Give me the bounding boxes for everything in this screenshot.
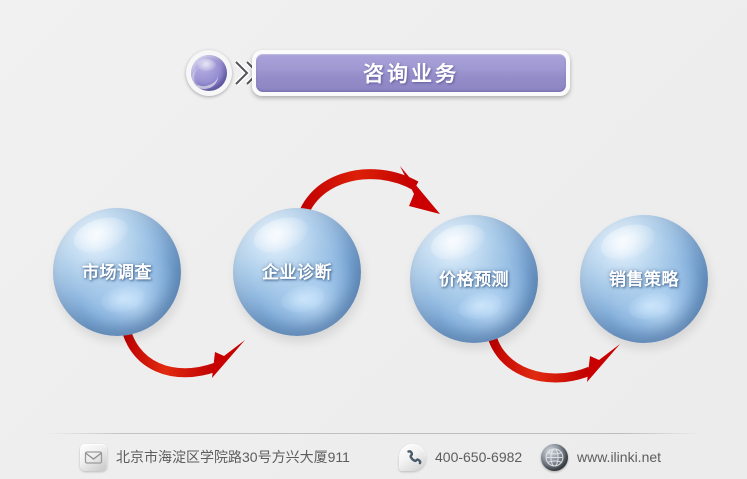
process-node-2[interactable]: 企业诊断 <box>233 208 361 336</box>
purple-sphere-icon <box>186 50 232 96</box>
process-node-3-label: 价格预测 <box>410 265 538 290</box>
process-node-1-label: 市场调查 <box>53 258 181 283</box>
footer-address: 北京市海淀区学院路30号方兴大厦911 <box>80 442 350 472</box>
slide-canvas: 咨询业务 <box>0 0 747 479</box>
footer-divider <box>46 433 701 434</box>
globe-icon <box>541 444 568 471</box>
header-banner: 咨询业务 <box>186 46 570 100</box>
process-node-2-label: 企业诊断 <box>233 258 361 283</box>
process-node-4[interactable]: 销售策略 <box>580 215 708 343</box>
process-node-3[interactable]: 价格预测 <box>410 215 538 343</box>
footer-website[interactable]: www.ilinki.net <box>541 442 661 472</box>
page-title: 咨询业务 <box>363 58 459 88</box>
footer-phone: 400-650-6982 <box>399 442 522 472</box>
header-title-bar-fill: 咨询业务 <box>256 54 566 92</box>
footer: 北京市海淀区学院路30号方兴大厦911 400-650-6982 <box>0 428 747 479</box>
phone-icon <box>399 444 426 471</box>
process-node-1[interactable]: 市场调查 <box>53 208 181 336</box>
header-title-bar: 咨询业务 <box>252 50 570 96</box>
footer-website-text: www.ilinki.net <box>577 449 661 465</box>
footer-address-text: 北京市海淀区学院路30号方兴大厦911 <box>116 447 350 467</box>
footer-phone-text: 400-650-6982 <box>435 449 522 465</box>
mail-icon <box>80 444 107 471</box>
process-node-4-label: 销售策略 <box>580 265 708 290</box>
